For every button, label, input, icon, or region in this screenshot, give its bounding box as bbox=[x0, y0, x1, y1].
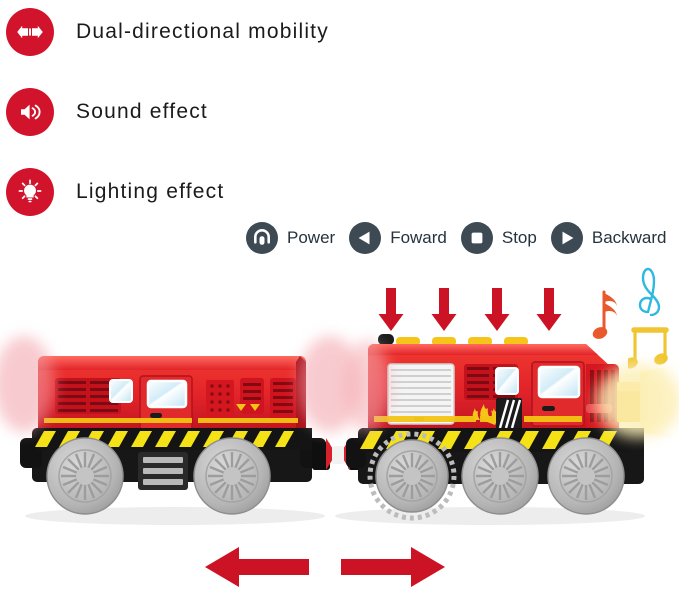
striped-panel bbox=[496, 398, 522, 430]
small-window bbox=[110, 380, 132, 402]
control-backward[interactable]: Backward bbox=[551, 222, 667, 254]
wheel bbox=[194, 438, 270, 514]
dual-arrow-icon bbox=[6, 8, 54, 56]
control-label: Backward bbox=[592, 228, 667, 248]
stop-square-icon[interactable] bbox=[461, 222, 493, 254]
control-label: Power bbox=[287, 228, 335, 248]
wheel bbox=[548, 438, 624, 514]
treble-clef-note bbox=[632, 258, 666, 316]
control-power[interactable]: Power bbox=[246, 222, 335, 254]
control-label: Stop bbox=[502, 228, 537, 248]
direction-arrows bbox=[205, 543, 445, 591]
headlight-glow bbox=[596, 364, 679, 438]
control-stop[interactable]: Stop bbox=[461, 222, 537, 254]
underbody-grille bbox=[138, 452, 188, 490]
control-legend: Power Foward Stop Ba bbox=[246, 222, 679, 254]
roof-knob bbox=[378, 334, 394, 345]
feature-row-sound-effect: Sound effect bbox=[6, 88, 208, 136]
control-label: Foward bbox=[390, 228, 447, 248]
rivet-panel bbox=[206, 380, 234, 420]
feature-label: Sound effect bbox=[76, 100, 208, 124]
freight-car bbox=[20, 356, 326, 514]
feature-label: Dual-directional mobility bbox=[76, 20, 329, 44]
feature-row-lighting-effect: Lighting effect bbox=[6, 168, 224, 216]
red-left-arrow bbox=[205, 547, 309, 587]
control-forward[interactable]: Foward bbox=[349, 222, 447, 254]
feature-label: Lighting effect bbox=[76, 180, 224, 204]
white-grille bbox=[388, 364, 454, 424]
product-feature-graphic: Dual-directional mobility Sound effect bbox=[0, 0, 679, 596]
speaker-icon bbox=[6, 88, 54, 136]
lightbulb-icon bbox=[6, 168, 54, 216]
play-left-icon[interactable] bbox=[349, 222, 381, 254]
power-icon[interactable] bbox=[246, 222, 278, 254]
wheel bbox=[462, 438, 538, 514]
motion-blur bbox=[344, 340, 390, 432]
toy-train-illustration bbox=[0, 320, 679, 540]
wheel bbox=[47, 438, 123, 514]
small-window bbox=[496, 368, 518, 394]
door bbox=[140, 376, 192, 432]
red-right-arrow bbox=[341, 547, 445, 587]
feature-row-dual-directional: Dual-directional mobility bbox=[6, 8, 329, 56]
play-right-icon[interactable] bbox=[551, 222, 583, 254]
